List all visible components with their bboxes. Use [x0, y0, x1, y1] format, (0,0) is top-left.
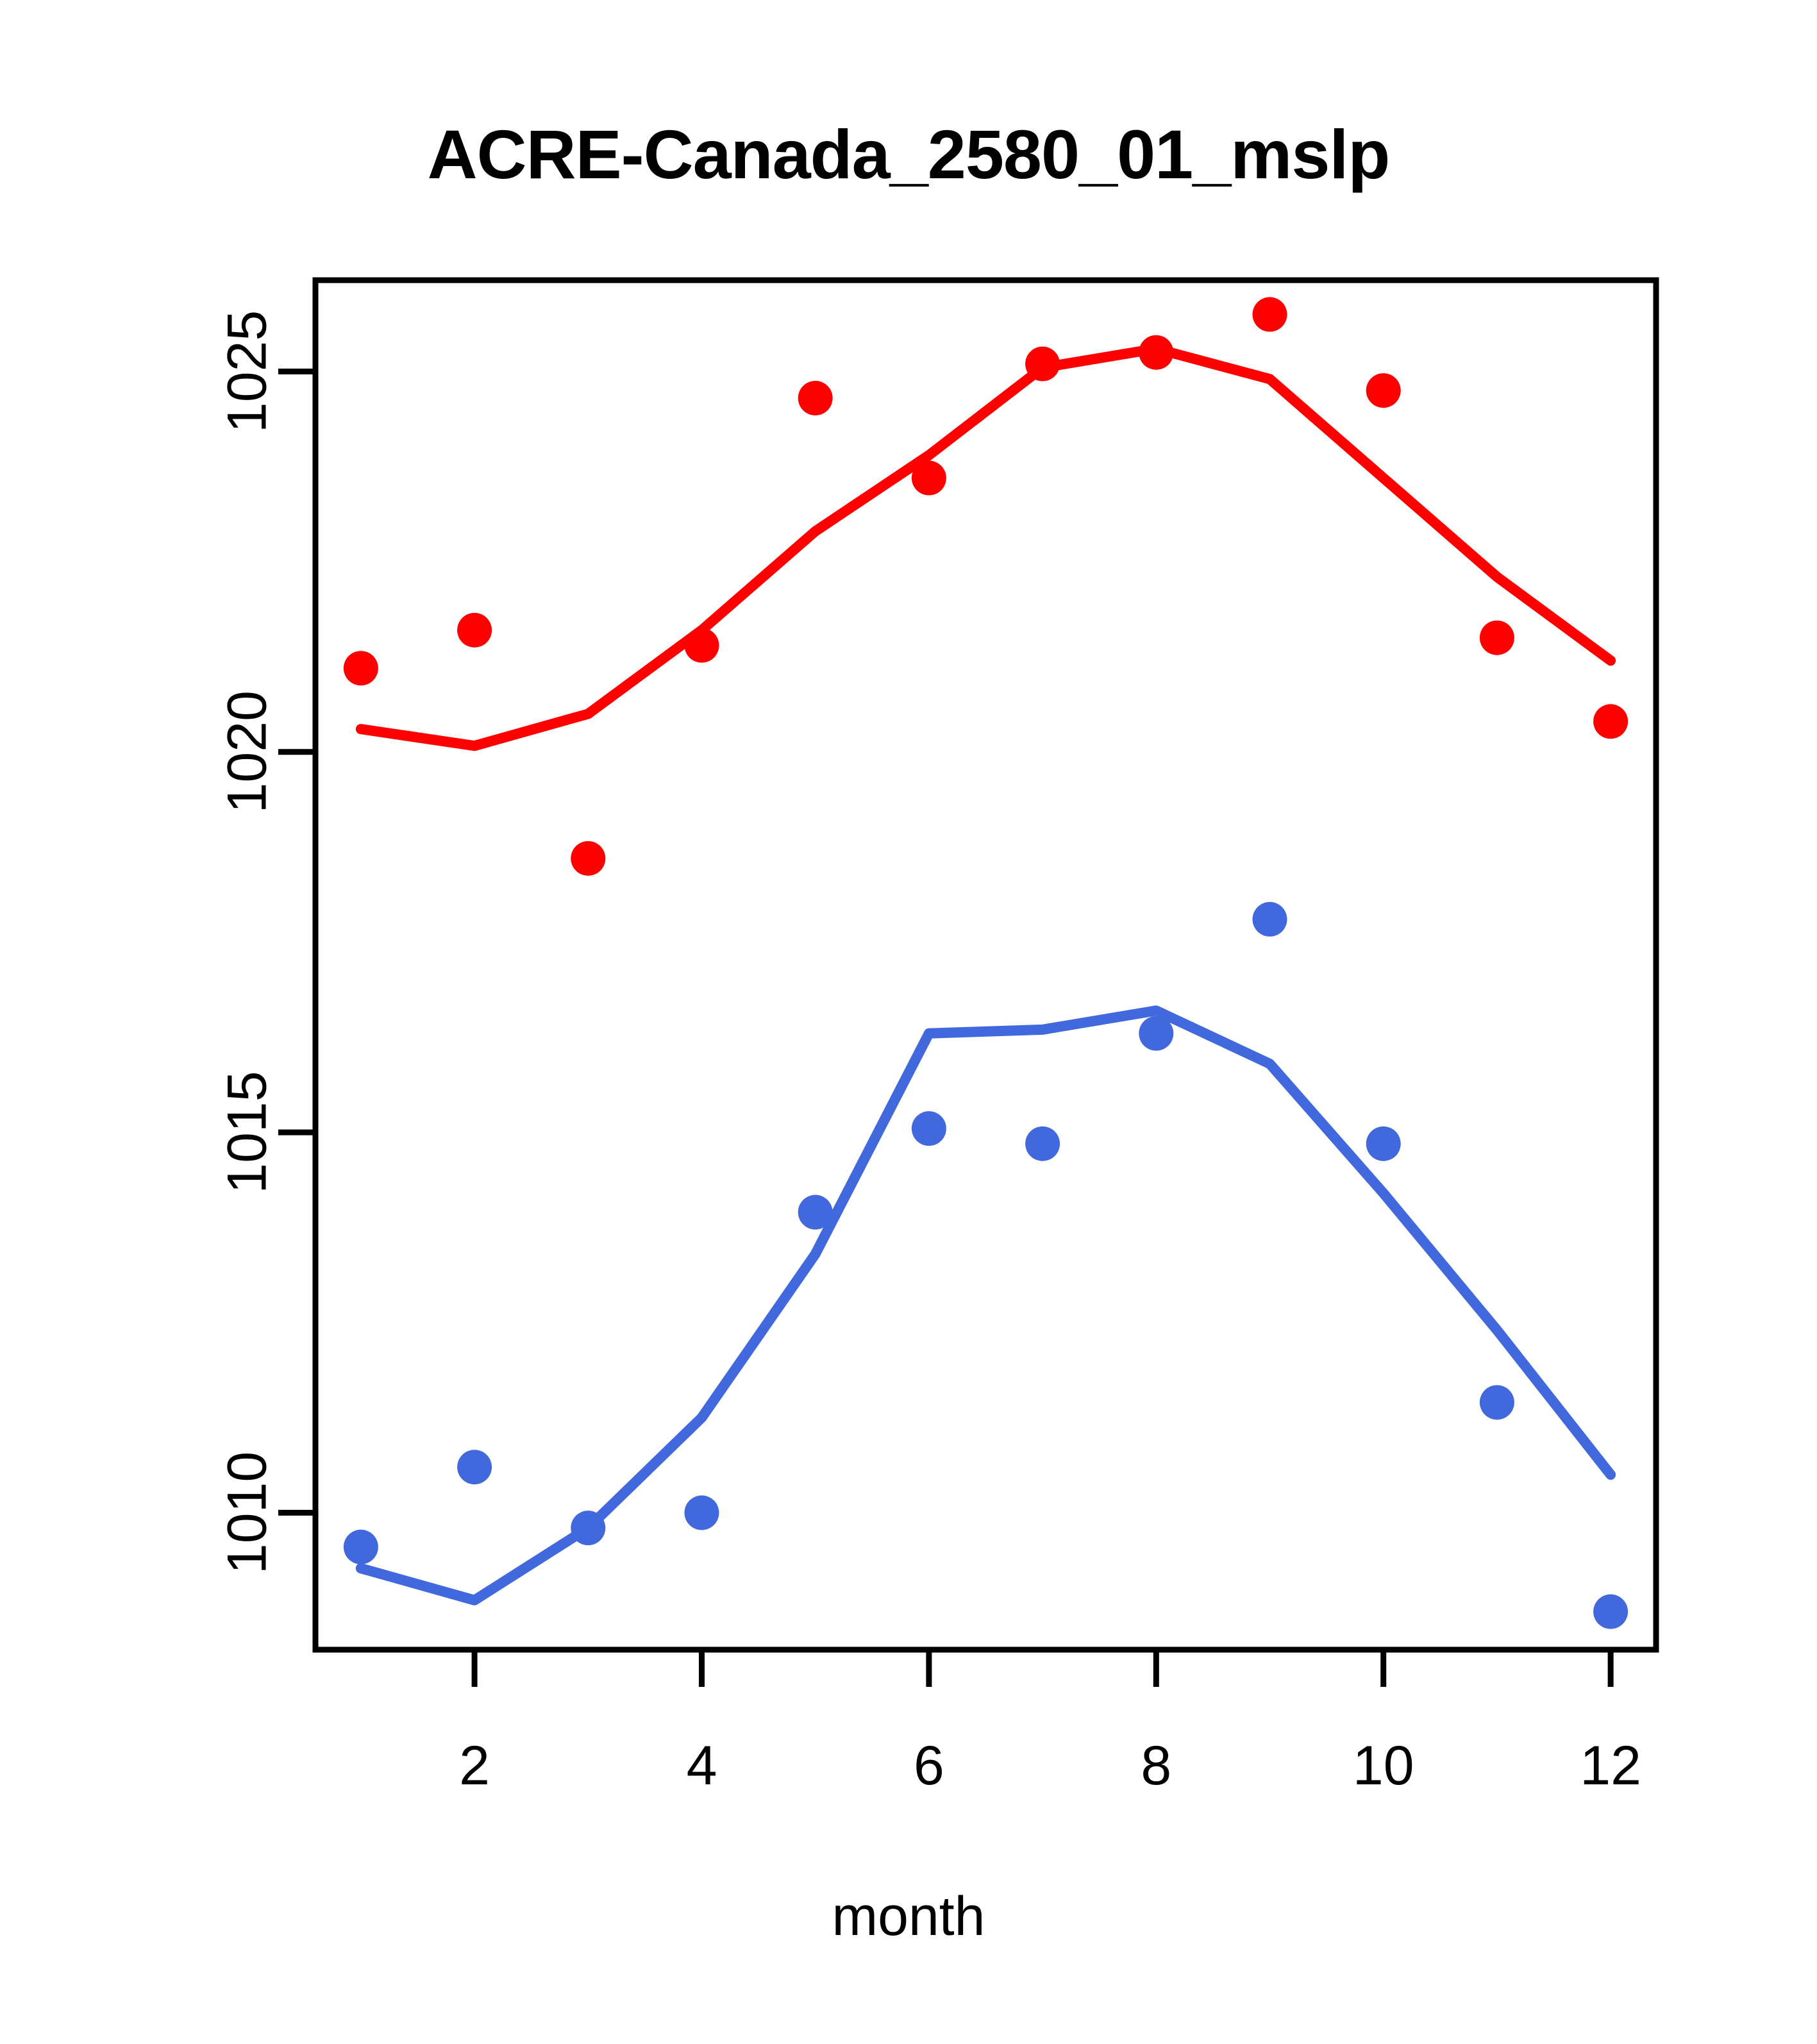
series-red-points — [344, 297, 1628, 875]
y-tick-label: 1025 — [217, 310, 278, 433]
data-point — [1480, 1385, 1514, 1420]
data-point — [457, 613, 492, 648]
data-point — [1366, 373, 1401, 408]
x-tick-label: 8 — [1141, 1735, 1171, 1797]
y-tick-label: 1015 — [217, 1071, 278, 1193]
x-tick-label: 10 — [1353, 1735, 1414, 1797]
data-point — [1025, 347, 1060, 381]
series-blue-trend — [361, 1010, 1611, 1600]
y-axis-ticks — [278, 371, 315, 1512]
data-point — [912, 461, 946, 496]
plot-frame — [315, 280, 1656, 1650]
x-tick-labels: 24681012 — [459, 1735, 1641, 1797]
data-point — [457, 1450, 492, 1484]
data-point — [344, 651, 378, 685]
data-point — [1593, 1595, 1628, 1629]
data-point — [684, 628, 719, 663]
y-tick-label: 1020 — [217, 691, 278, 813]
series-blue-points — [344, 902, 1628, 1629]
data-point — [1253, 902, 1287, 937]
data-point — [684, 1495, 719, 1530]
x-axis-ticks — [474, 1650, 1611, 1687]
data-points — [344, 297, 1628, 1629]
data-point — [1253, 297, 1287, 331]
x-tick-label: 12 — [1580, 1735, 1641, 1797]
data-point — [1366, 1127, 1401, 1161]
data-point — [1593, 704, 1628, 739]
data-point — [798, 1195, 833, 1230]
data-point — [571, 841, 605, 876]
data-point — [344, 1530, 378, 1564]
data-point — [1480, 621, 1514, 655]
plot-svg: 24681012 1010101510201025 — [0, 0, 1817, 2044]
x-tick-label: 6 — [914, 1735, 944, 1797]
trend-lines — [361, 349, 1611, 1600]
data-point — [912, 1111, 946, 1146]
data-point — [1139, 1016, 1173, 1051]
x-axis-label: month — [0, 1885, 1817, 1948]
series-red-trend — [361, 349, 1611, 746]
data-point — [798, 381, 833, 415]
plot-border — [315, 280, 1656, 1650]
data-point — [1025, 1127, 1060, 1161]
x-tick-label: 2 — [459, 1735, 490, 1797]
y-tick-label: 1010 — [217, 1452, 278, 1574]
chart-canvas: ACRE-Canada_2580_01_mslp 24681012 101010… — [0, 0, 1817, 2044]
y-tick-labels: 1010101510201025 — [217, 310, 278, 1574]
data-point — [1139, 335, 1173, 370]
data-point — [571, 1511, 605, 1545]
x-tick-label: 4 — [687, 1735, 717, 1797]
